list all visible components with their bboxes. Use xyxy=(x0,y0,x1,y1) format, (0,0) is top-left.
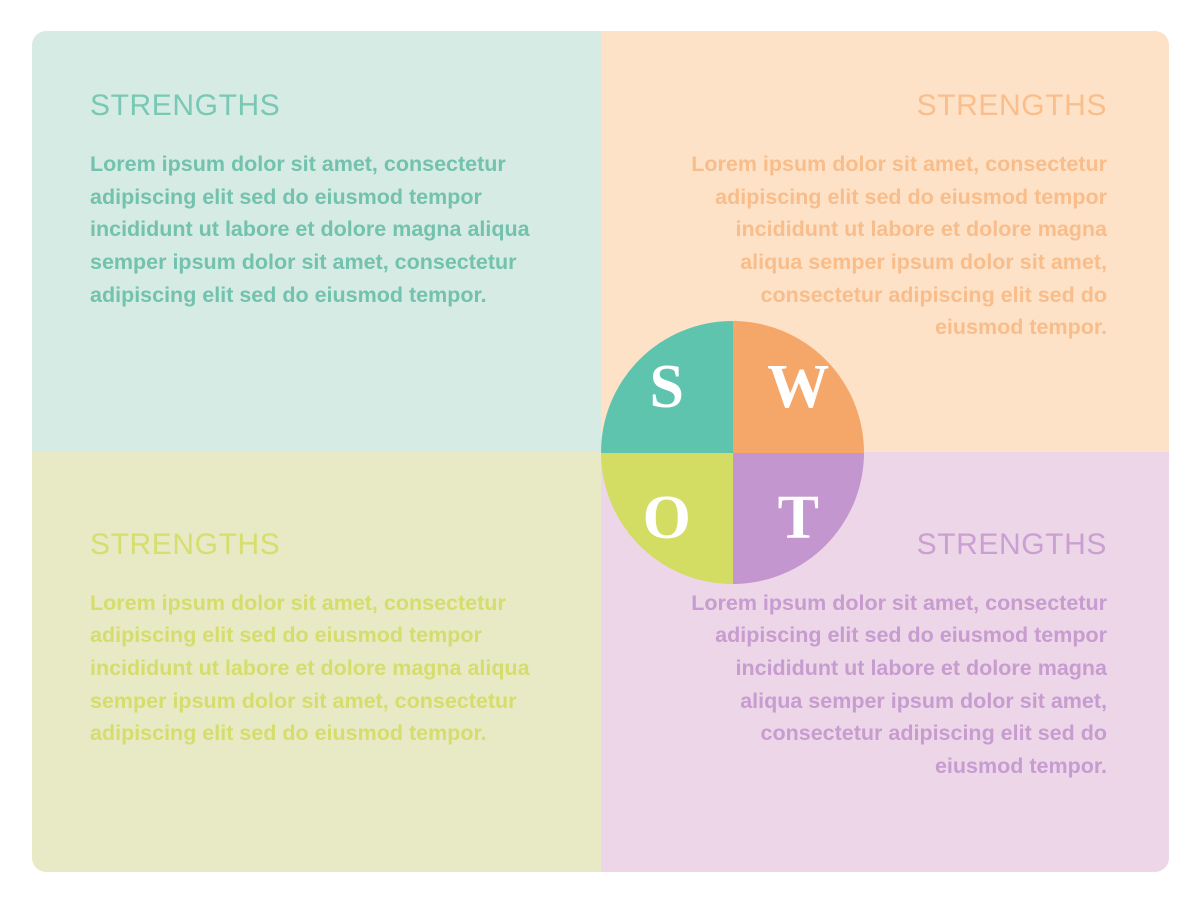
quadrant-body-threats: Lorem ipsum dolor sit amet, consectetur … xyxy=(671,587,1108,783)
quadrant-opportunities[interactable]: STRENGTHS Lorem ipsum dolor sit amet, co… xyxy=(32,452,601,873)
quadrant-heading-opportunities: STRENGTHS xyxy=(90,528,280,561)
swot-center-wheel: S W O T xyxy=(601,321,864,584)
quadrant-heading-weaknesses: STRENGTHS xyxy=(917,89,1107,122)
swot-board: STRENGTHS Lorem ipsum dolor sit amet, co… xyxy=(32,31,1169,872)
quadrant-body-strengths: Lorem ipsum dolor sit amet, consectetur … xyxy=(90,148,531,311)
quadrant-body-opportunities: Lorem ipsum dolor sit amet, consectetur … xyxy=(90,587,531,750)
quadrant-strengths[interactable]: STRENGTHS Lorem ipsum dolor sit amet, co… xyxy=(32,31,601,452)
quadrant-heading-strengths: STRENGTHS xyxy=(90,89,280,122)
quadrant-heading-threats: STRENGTHS xyxy=(917,528,1107,561)
quadrant-body-weaknesses: Lorem ipsum dolor sit amet, consectetur … xyxy=(671,148,1108,344)
